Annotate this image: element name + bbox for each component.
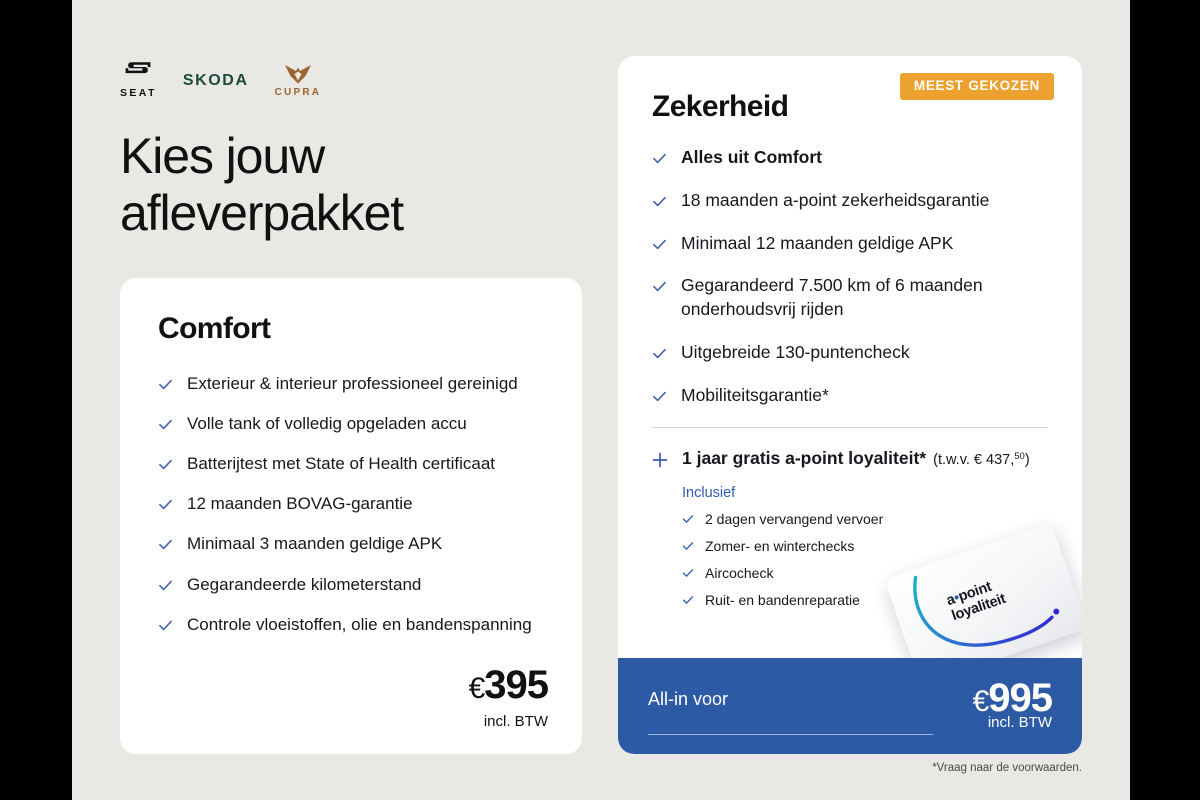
cupra-logo-icon bbox=[283, 63, 313, 85]
currency-symbol: € bbox=[469, 672, 485, 705]
feature-label: Volle tank of volledig opgeladen accu bbox=[187, 412, 467, 435]
list-item: Volle tank of volledig opgeladen accu bbox=[158, 412, 544, 435]
check-icon bbox=[158, 417, 173, 432]
check-icon bbox=[652, 389, 667, 404]
feature-label: Gegarandeerde kilometerstand bbox=[187, 573, 421, 596]
list-item: Gegarandeerde kilometerstand bbox=[158, 573, 544, 596]
comfort-price-vat: incl. BTW bbox=[469, 713, 548, 730]
list-item: Minimaal 3 maanden geldige APK bbox=[158, 532, 544, 555]
package-card-zekerheid[interactable]: MEEST GEKOZEN Zekerheid Alles uit Comfor… bbox=[618, 56, 1082, 754]
screen: SEAT SKODA CUPRA Kies jouw afleverpakket… bbox=[0, 0, 1200, 800]
brand-seat: SEAT bbox=[120, 60, 157, 99]
check-icon bbox=[652, 346, 667, 361]
check-icon bbox=[158, 578, 173, 593]
footnote: *Vraag naar de voorwaarden. bbox=[932, 762, 1082, 774]
comfort-price: €395 bbox=[469, 665, 548, 705]
list-item: 2 dagen vervangend vervoer bbox=[682, 510, 1048, 528]
feature-label: Minimaal 3 maanden geldige APK bbox=[187, 532, 442, 555]
check-icon bbox=[682, 513, 694, 525]
feature-label: 12 maanden BOVAG-garantie bbox=[187, 492, 413, 515]
allin-row: All-in voor €995 bbox=[648, 678, 1052, 718]
section-divider bbox=[652, 427, 1048, 428]
content-stage: SEAT SKODA CUPRA Kies jouw afleverpakket… bbox=[72, 0, 1130, 800]
feature-label: Minimaal 12 maanden geldige APK bbox=[681, 232, 953, 256]
list-item: Gegarandeerd 7.500 km of 6 maanden onder… bbox=[652, 274, 1048, 322]
check-icon bbox=[682, 567, 694, 579]
feature-label: Alles uit Comfort bbox=[681, 146, 822, 170]
list-item: Uitgebreide 130-puntencheck bbox=[652, 341, 1048, 365]
loyalty-value-cents: 50 bbox=[1014, 450, 1025, 461]
feature-label: 18 maanden a-point zekerheidsgarantie bbox=[681, 189, 989, 213]
list-item: Exterieur & interieur professioneel gere… bbox=[158, 372, 544, 395]
inclusief-label: Inclusief bbox=[682, 485, 1048, 501]
check-icon bbox=[652, 237, 667, 252]
list-item: Controle vloeistoffen, olie en bandenspa… bbox=[158, 613, 544, 636]
loyalty-title: 1 jaar gratis a-point loyaliteit* bbox=[682, 448, 926, 468]
package-card-comfort[interactable]: Comfort Exterieur & interieur profession… bbox=[120, 278, 582, 754]
feature-label: Gegarandeerd 7.500 km of 6 maanden onder… bbox=[681, 274, 1048, 322]
status-badge: MEEST GEKOZEN bbox=[900, 73, 1054, 100]
check-icon bbox=[652, 194, 667, 209]
check-icon bbox=[158, 537, 173, 552]
sub-feature-label: Ruit- en bandenreparatie bbox=[705, 591, 860, 609]
check-icon bbox=[158, 497, 173, 512]
skoda-wordmark-icon: SKODA bbox=[183, 73, 249, 98]
zekerheid-feature-list: Alles uit Comfort 18 maanden a-point zek… bbox=[652, 146, 1048, 408]
allin-price-bar: All-in voor €995 incl. BTW bbox=[618, 658, 1082, 754]
check-icon bbox=[682, 540, 694, 552]
page-title: Kies jouw afleverpakket bbox=[120, 128, 600, 242]
zekerheid-price-vat: incl. BTW bbox=[988, 714, 1052, 731]
loyalty-value-prefix: (t.w.v. € 437, bbox=[933, 452, 1014, 468]
allin-label: All-in voor bbox=[648, 678, 728, 708]
feature-label: Uitgebreide 130-puntencheck bbox=[681, 341, 910, 365]
plus-icon bbox=[652, 452, 668, 468]
loyalty-value: (t.w.v. € 437,50) bbox=[933, 452, 1030, 468]
list-item: Minimaal 12 maanden geldige APK bbox=[652, 232, 1048, 256]
check-icon bbox=[158, 377, 173, 392]
brand-seat-label: SEAT bbox=[120, 88, 157, 99]
comfort-title: Comfort bbox=[158, 312, 544, 346]
list-item: 12 maanden BOVAG-garantie bbox=[158, 492, 544, 515]
allin-rule bbox=[648, 734, 933, 735]
sub-feature-label: Zomer- en winterchecks bbox=[705, 537, 854, 555]
brand-cupra-label: CUPRA bbox=[275, 88, 322, 98]
comfort-price-block: €395 incl. BTW bbox=[469, 665, 548, 730]
feature-label: Mobiliteitsgarantie* bbox=[681, 384, 829, 408]
loyalty-value-suffix: ) bbox=[1025, 452, 1030, 468]
loyalty-header: 1 jaar gratis a-point loyaliteit*(t.w.v.… bbox=[652, 448, 1048, 469]
brand-logo-bar: SEAT SKODA CUPRA bbox=[120, 56, 321, 98]
list-item: Mobiliteitsgarantie* bbox=[652, 384, 1048, 408]
list-item: Alles uit Comfort bbox=[652, 146, 1048, 170]
feature-label: Controle vloeistoffen, olie en bandenspa… bbox=[187, 613, 532, 636]
price-value: 395 bbox=[484, 663, 548, 707]
check-icon bbox=[158, 457, 173, 472]
sub-feature-label: Aircocheck bbox=[705, 564, 773, 582]
brand-skoda: SKODA bbox=[183, 73, 249, 98]
list-item: 18 maanden a-point zekerheidsgarantie bbox=[652, 189, 1048, 213]
zekerheid-price: €995 bbox=[973, 678, 1052, 718]
feature-label: Exterieur & interieur professioneel gere… bbox=[187, 372, 518, 395]
seat-logo-icon bbox=[125, 60, 151, 86]
list-item: Batterijtest met State of Health certifi… bbox=[158, 452, 544, 475]
currency-symbol: € bbox=[973, 685, 989, 718]
sub-feature-label: 2 dagen vervangend vervoer bbox=[705, 510, 883, 528]
check-icon bbox=[652, 151, 667, 166]
check-icon bbox=[682, 594, 694, 606]
feature-label: Batterijtest met State of Health certifi… bbox=[187, 452, 495, 475]
comfort-feature-list: Exterieur & interieur professioneel gere… bbox=[158, 372, 544, 636]
check-icon bbox=[158, 618, 173, 633]
check-icon bbox=[652, 279, 667, 294]
brand-cupra: CUPRA bbox=[275, 63, 322, 98]
